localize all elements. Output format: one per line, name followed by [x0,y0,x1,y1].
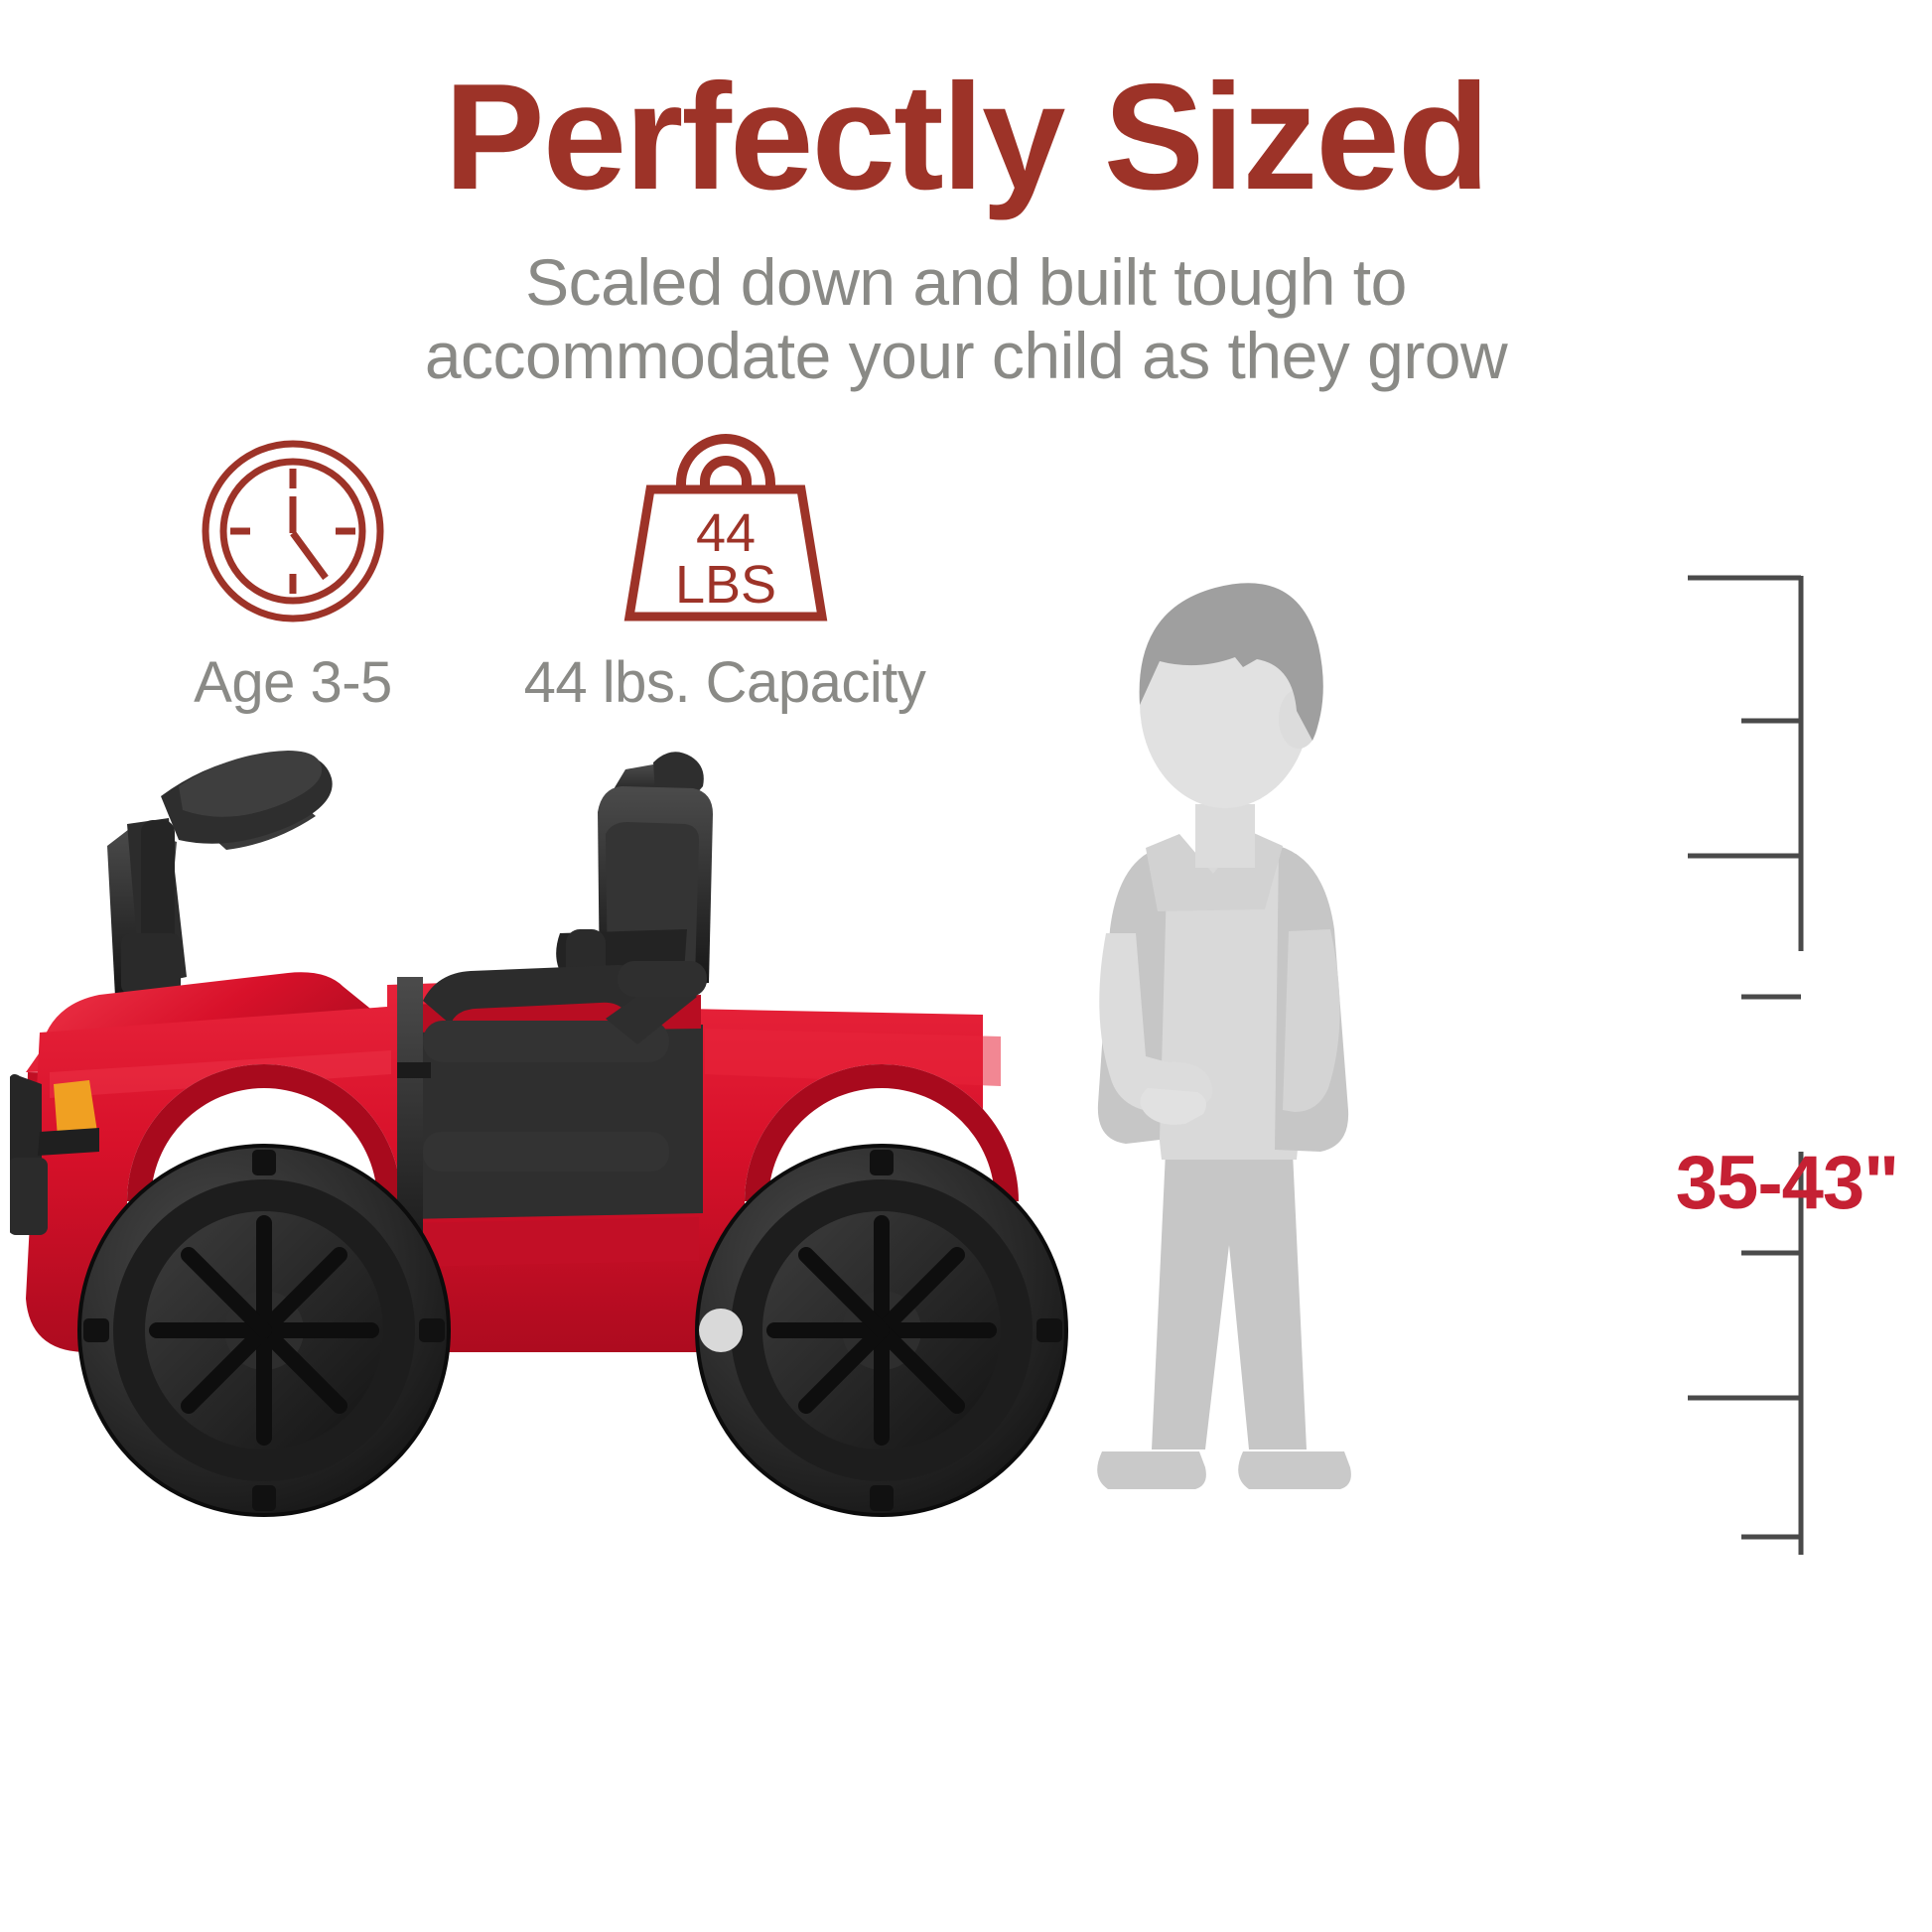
vehicle-steering [107,751,333,997]
feature-list: Age 3-5 44 LBS 44 lbs. Capacity [0,427,1033,745]
child-silhouette [1062,556,1390,1559]
weight-bag-unit: LBS [674,555,775,615]
vehicle-seat [556,752,713,989]
feature-age-label: Age 3-5 [99,649,486,716]
height-ruler [1678,556,1876,1559]
weight-bag-icon: 44 LBS [619,422,832,625]
child-silhouette-svg [1062,556,1390,1559]
feature-capacity-label: 44 lbs. Capacity [457,649,993,716]
weight-bag-value: 44 [695,503,755,563]
header: Perfectly Sized Scaled down and built to… [0,0,1932,393]
clock-icon [199,437,387,625]
subtitle-line-1: Scaled down and built tough to [0,246,1932,320]
vehicle-side-hub [699,1309,743,1352]
vehicle-rear-wheel [697,1146,1066,1515]
height-measurement-label: 35-43" [1648,1140,1926,1226]
ride-on-vehicle-svg [10,735,1092,1529]
height-ruler-svg [1678,556,1876,1559]
feature-age: Age 3-5 [99,427,486,716]
page-title: Perfectly Sized [0,62,1932,212]
ride-on-vehicle-image [10,735,1092,1529]
clock-icon-wrap [99,427,486,625]
weight-bag-icon-wrap: 44 LBS [457,427,993,625]
vehicle-front-wheel [79,1146,449,1515]
page-subtitle: Scaled down and built tough to accommoda… [0,246,1932,393]
subtitle-line-2: accommodate your child as they grow [0,320,1932,393]
feature-capacity: 44 LBS 44 lbs. Capacity [457,427,993,716]
